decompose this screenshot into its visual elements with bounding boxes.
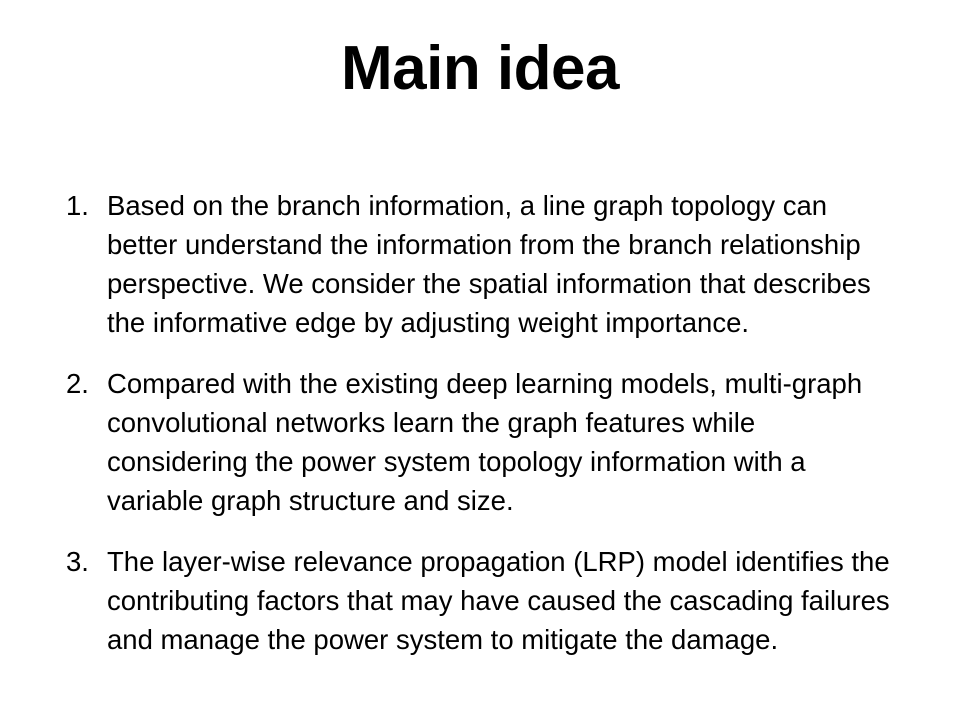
list-item: 1. Based on the branch information, a li… (66, 186, 902, 342)
list-item-text: Compared with the existing deep learning… (107, 364, 902, 520)
list-item-marker: 2. (66, 364, 99, 403)
list-item-marker: 1. (66, 186, 99, 225)
slide-canvas: Main idea 1. Based on the branch informa… (0, 0, 960, 720)
list-item: 3. The layer-wise relevance propagation … (66, 542, 902, 659)
list-item-text: Based on the branch information, a line … (107, 186, 902, 342)
list-item: 2. Compared with the existing deep learn… (66, 364, 902, 520)
list-item-marker: 3. (66, 542, 99, 581)
list-item-text: The layer-wise relevance propagation (LR… (107, 542, 902, 659)
main-idea-list: 1. Based on the branch information, a li… (66, 186, 902, 659)
page-title: Main idea (0, 36, 960, 103)
